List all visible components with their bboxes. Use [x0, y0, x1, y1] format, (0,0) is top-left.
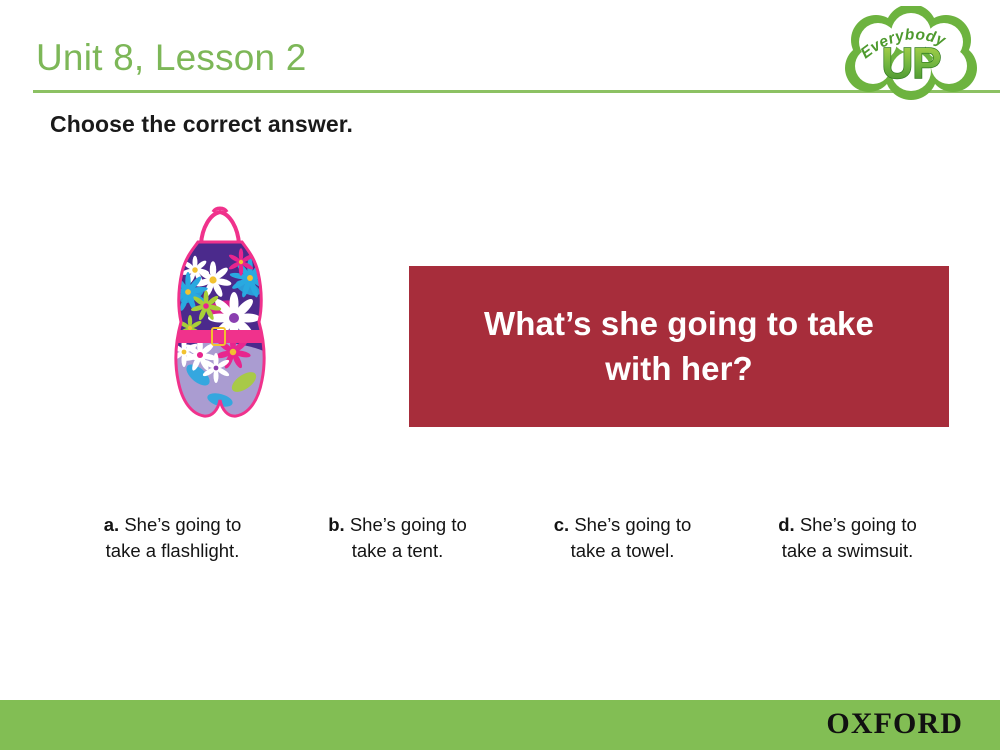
- instruction-text: Choose the correct answer.: [50, 111, 353, 138]
- answer-text-d-line1: She’s going to: [800, 514, 917, 535]
- footer-bar: OXFORD: [0, 700, 1000, 750]
- answer-option-d[interactable]: d. She’s going to take a swimsuit.: [735, 512, 960, 565]
- answer-letter-c: c.: [554, 514, 569, 535]
- answer-text-a-line2: take a flashlight.: [106, 540, 240, 561]
- swimsuit-photo: [168, 200, 273, 425]
- answer-letter-a: a.: [104, 514, 119, 535]
- answer-letter-b: b.: [328, 514, 344, 535]
- answer-text-c-line1: She’s going to: [574, 514, 691, 535]
- answer-text-b-line1: She’s going to: [350, 514, 467, 535]
- question-text: What’s she going to take with her?: [484, 302, 874, 390]
- page-title: Unit 8, Lesson 2: [36, 38, 307, 79]
- slide-root: Unit 8, Lesson 2: [0, 0, 1000, 750]
- answer-option-a[interactable]: a. She’s going to take a flashlight.: [60, 512, 285, 565]
- answer-options: a. She’s going to take a flashlight. b. …: [60, 512, 960, 565]
- answer-text-a-line1: She’s going to: [124, 514, 241, 535]
- answer-letter-d: d.: [778, 514, 794, 535]
- everybody-up-logo: Everybody UP: [836, 6, 986, 101]
- question-line-1: What’s she going to take: [484, 305, 874, 342]
- svg-text:UP: UP: [881, 39, 940, 88]
- answer-option-b[interactable]: b. She’s going to take a tent.: [285, 512, 510, 565]
- question-line-2: with her?: [605, 350, 753, 387]
- answer-option-c[interactable]: c. She’s going to take a towel.: [510, 512, 735, 565]
- answer-text-b-line2: take a tent.: [352, 540, 444, 561]
- answer-text-d-line2: take a swimsuit.: [782, 540, 914, 561]
- answer-text-c-line2: take a towel.: [571, 540, 675, 561]
- question-box: What’s she going to take with her?: [409, 266, 949, 427]
- oxford-logo: OXFORD: [826, 707, 963, 741]
